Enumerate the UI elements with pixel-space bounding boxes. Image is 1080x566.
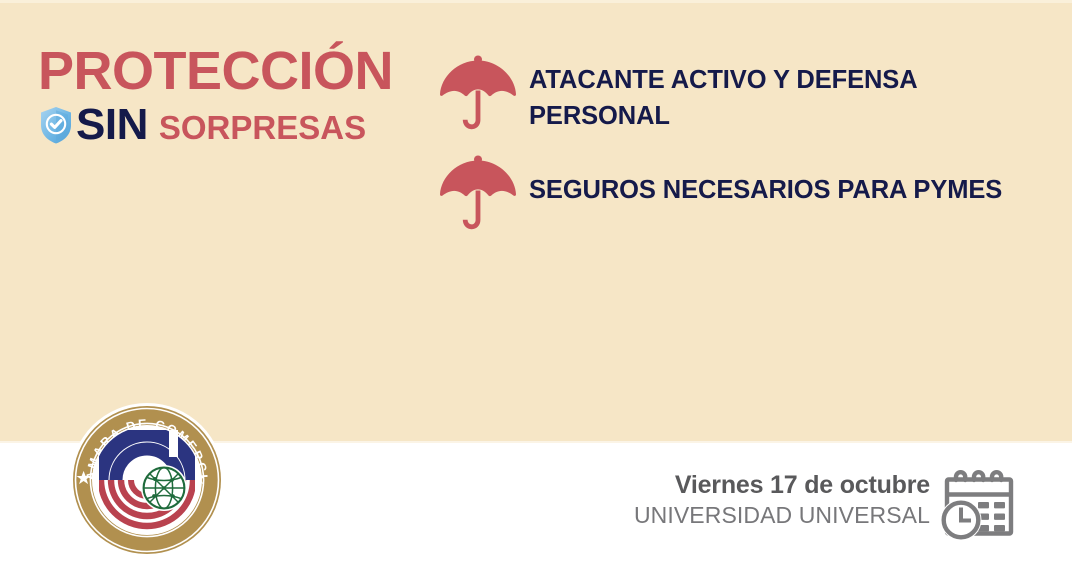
topic-item: SEGUROS NECESARIOS PARA PYMES <box>437 152 1057 240</box>
event-date: Viernes 17 de octubre <box>634 471 930 500</box>
top-hairline <box>0 0 1072 3</box>
shield-check-icon <box>38 105 74 145</box>
brand-word-sin: SIN <box>76 103 148 147</box>
camara-de-comercio-seal: CAMARA DE COMERCIO DE PUERTO RICO <box>69 402 225 558</box>
event-banner: PROTECCIÓN SIN <box>0 0 1080 566</box>
topic-label: SEGUROS NECESARIOS PARA PYMES <box>529 152 1002 208</box>
calendar-clock-icon <box>938 466 1020 546</box>
brand-word-sorpresas: SORPRESAS <box>159 111 366 144</box>
seal-globe-icon <box>144 468 185 509</box>
topic-label: ATACANTE ACTIVO Y DEFENSA PERSONAL <box>529 52 1037 134</box>
umbrella-icon <box>437 152 519 240</box>
brand-lockup: PROTECCIÓN SIN <box>38 44 438 147</box>
footer-details: Viernes 17 de octubre UNIVERSIDAD UNIVER… <box>634 471 930 529</box>
event-venue: UNIVERSIDAD UNIVERSAL <box>634 502 930 530</box>
umbrella-icon <box>437 52 519 140</box>
brand-title-proteccion: PROTECCIÓN <box>38 44 438 98</box>
brand-subtitle: SIN SORPRESAS <box>38 103 438 147</box>
calendar-date-cells <box>978 502 1005 531</box>
topic-item: ATACANTE ACTIVO Y DEFENSA PERSONAL <box>437 52 1037 140</box>
